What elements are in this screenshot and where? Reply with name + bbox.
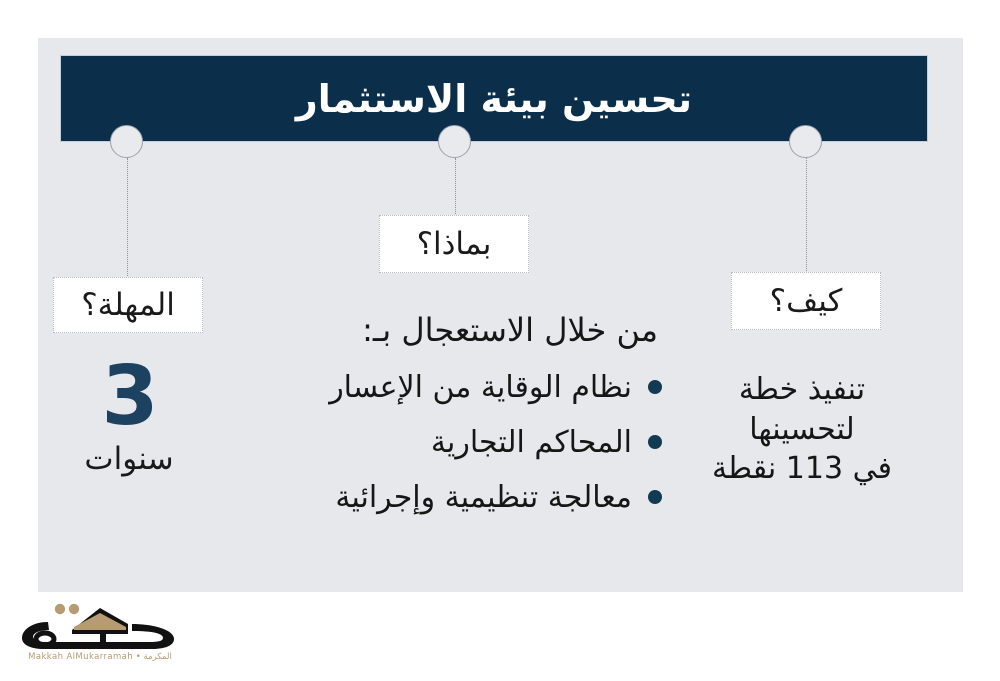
label-box-deadline[interactable]: المهلة؟ [53, 277, 203, 333]
label-how-text: كيف؟ [770, 286, 843, 317]
bullet-text: نظام الوقاية من الإعسار [329, 371, 632, 404]
deadline-unit: سنوات [45, 442, 213, 476]
bullet-dot-icon [648, 380, 662, 394]
label-with-what-text: بماذا؟ [417, 229, 492, 260]
how-line-2: لتحسينها [688, 410, 916, 450]
bullet-text: المحاكم التجارية [431, 426, 632, 459]
infographic-root: تحسين بيئة الاستثمار المهلة؟ بماذا؟ كيف؟… [0, 0, 1000, 681]
bullet-text: معالجة تنظيمية وإجرائية [335, 481, 632, 514]
node-circle-middle [438, 125, 471, 158]
how-line-3: في 113 نقطة [688, 449, 916, 489]
deadline-number: 3 [45, 358, 213, 436]
node-line-middle [455, 158, 457, 216]
list-item: المحاكم التجارية [242, 426, 662, 459]
middle-intro-text: من خلال الاستعجال بـ: [242, 312, 662, 349]
node-circle-left [110, 125, 143, 158]
label-deadline-text: المهلة؟ [81, 290, 175, 321]
node-line-right [806, 158, 808, 273]
node-line-left [127, 158, 129, 278]
list-item: نظام الوقاية من الإعسار [242, 371, 662, 404]
makkah-logo: المكرمة • Makkah AlMukarramah [14, 602, 199, 672]
how-line-1: تنفيذ خطة [688, 370, 916, 410]
list-item: معالجة تنظيمية وإجرائية [242, 481, 662, 514]
makkah-logo-caption: المكرمة • Makkah AlMukarramah [14, 652, 186, 662]
node-circle-right [789, 125, 822, 158]
bullet-list: نظام الوقاية من الإعسار المحاكم التجارية… [242, 371, 662, 514]
label-box-with-what[interactable]: بماذا؟ [379, 215, 529, 273]
column-deadline: 3 سنوات [45, 358, 213, 476]
label-box-how[interactable]: كيف؟ [731, 272, 881, 330]
makkah-logo-icon [14, 602, 186, 650]
bullet-dot-icon [648, 490, 662, 504]
banner-title: تحسين بيئة الاستثمار [296, 80, 692, 118]
column-with-what: من خلال الاستعجال بـ: نظام الوقاية من ال… [242, 312, 662, 536]
column-how: تنفيذ خطة لتحسينها في 113 نقطة [688, 370, 916, 489]
bullet-dot-icon [648, 435, 662, 449]
